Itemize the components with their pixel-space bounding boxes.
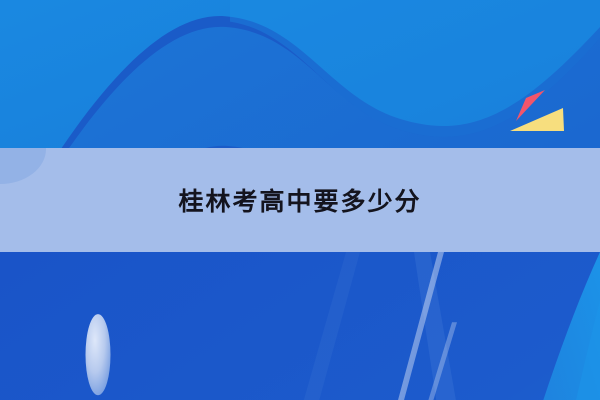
banner-top-section [0,0,600,148]
light-circle-icon [86,314,111,395]
banner-image: 桂林考高中要多少分 [0,0,600,400]
banner-headline-band: 桂林考高中要多少分 [0,148,600,252]
banner-bottom-section [0,252,600,400]
yellow-triangle-icon [505,105,567,135]
bottom-light-ray-graphic [0,252,600,400]
page-title: 桂林考高中要多少分 [0,148,600,252]
